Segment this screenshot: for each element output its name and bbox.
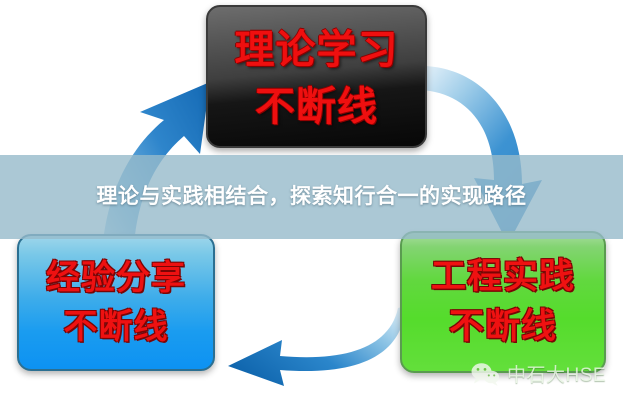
flow-node-engineering-practice-line2: 不断线	[449, 309, 557, 345]
flow-node-theory-study[interactable]: 理论学习 不断线	[206, 5, 427, 148]
arrow-path	[228, 306, 406, 386]
wechat-icon	[470, 362, 500, 386]
flow-node-engineering-practice[interactable]: 工程实践 不断线	[400, 231, 606, 373]
arrow-practice-to-experience	[208, 300, 408, 390]
flow-node-theory-study-line2: 不断线	[255, 87, 378, 128]
flow-node-experience-sharing[interactable]: 经验分享 不断线	[17, 234, 215, 371]
flow-node-experience-sharing-line1: 经验分享	[46, 261, 186, 296]
caption-band: 理论与实践相结合，探索知行合一的实现路径	[0, 155, 623, 239]
flow-node-engineering-practice-line1: 工程实践	[431, 259, 575, 295]
slide-canvas: 理论学习 不断线 经验分享 不断线 工程实践 不断线 理论与实践相结合，探索知行…	[0, 0, 623, 400]
caption-text: 理论与实践相结合，探索知行合一的实现路径	[47, 183, 577, 211]
watermark-label: 中石大HSE	[507, 360, 606, 387]
watermark: 中石大HSE	[470, 360, 606, 387]
flow-node-theory-study-line1: 理论学习	[235, 30, 399, 71]
flow-node-experience-sharing-line2: 不断线	[64, 310, 169, 345]
